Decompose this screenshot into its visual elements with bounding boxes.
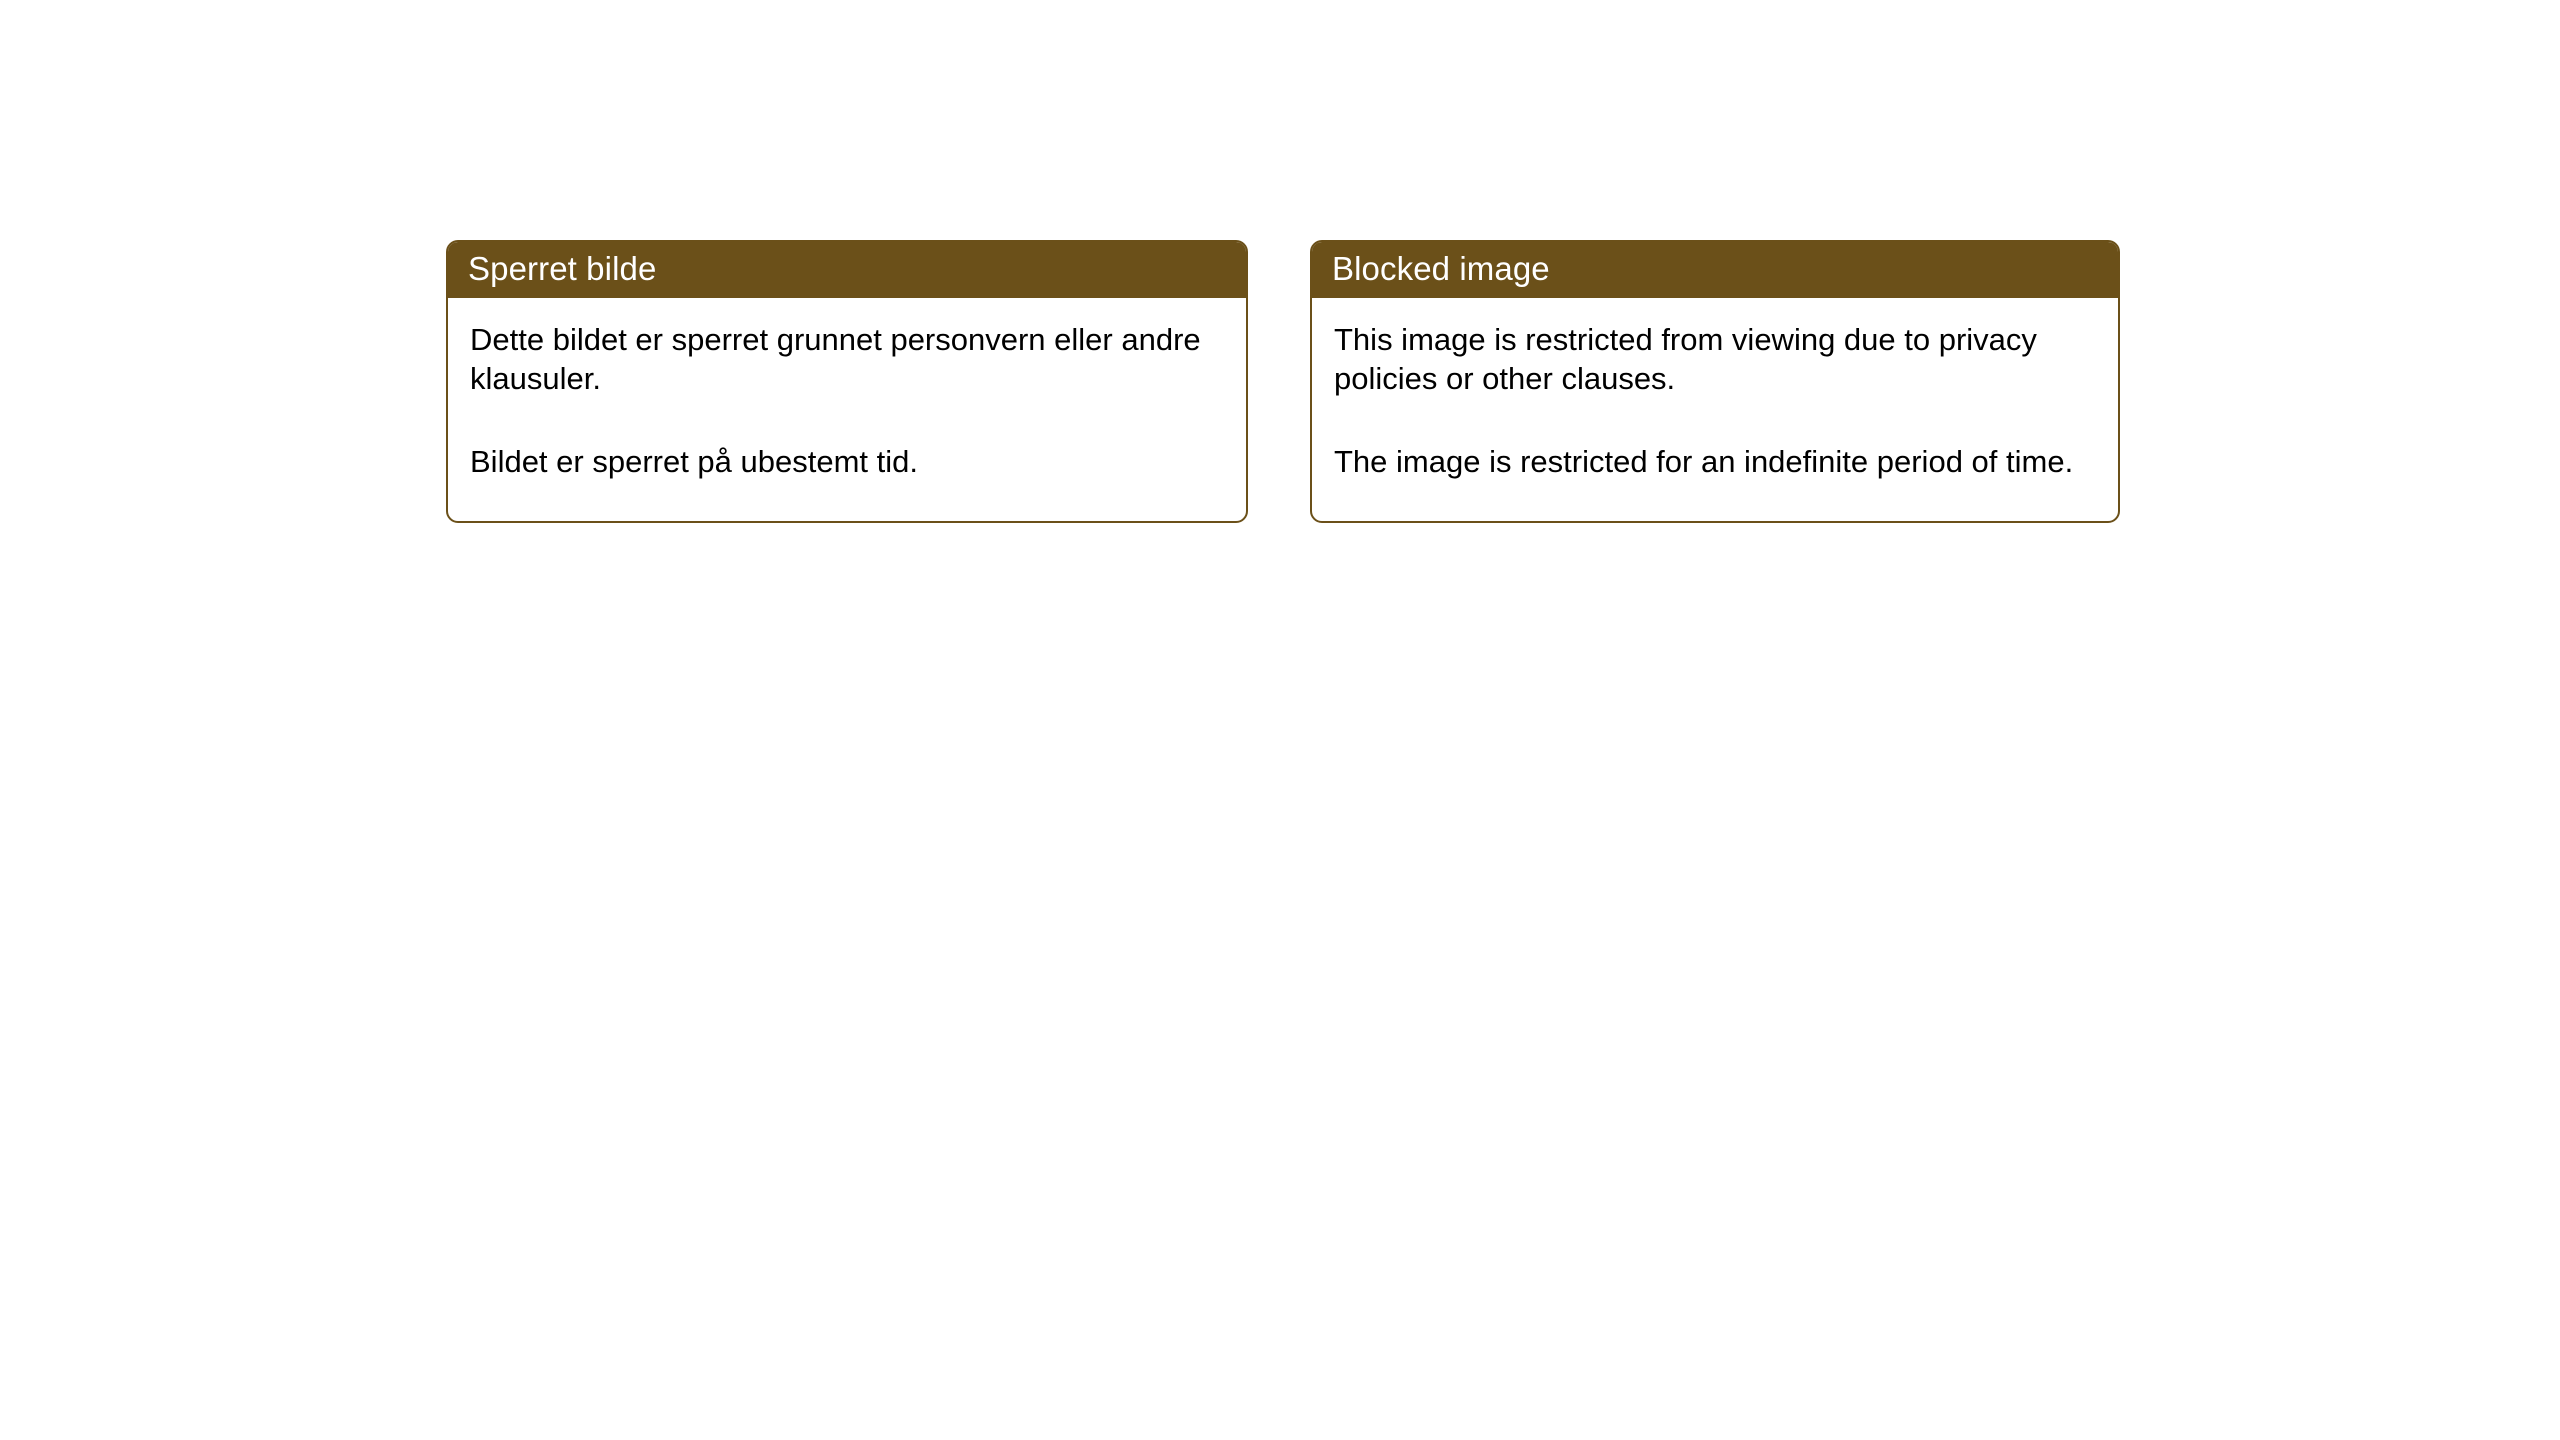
card-title-english: Blocked image: [1310, 240, 2120, 298]
card-title-norwegian: Sperret bilde: [446, 240, 1248, 298]
blocked-image-notice-group: Sperret bilde Dette bildet er sperret gr…: [446, 240, 2120, 523]
blocked-image-card-english: Blocked image This image is restricted f…: [1310, 240, 2120, 523]
page-canvas: Sperret bilde Dette bildet er sperret gr…: [0, 0, 2560, 1440]
card-paragraph-duration-english: The image is restricted for an indefinit…: [1334, 442, 2074, 481]
card-paragraph-reason-english: This image is restricted from viewing du…: [1334, 320, 2074, 399]
card-paragraph-duration-norwegian: Bildet er sperret på ubestemt tid.: [470, 442, 1210, 481]
card-paragraph-reason-norwegian: Dette bildet er sperret grunnet personve…: [470, 320, 1210, 399]
blocked-image-card-norwegian: Sperret bilde Dette bildet er sperret gr…: [446, 240, 1248, 523]
card-body-english: This image is restricted from viewing du…: [1312, 298, 2118, 521]
card-body-norwegian: Dette bildet er sperret grunnet personve…: [448, 298, 1246, 521]
